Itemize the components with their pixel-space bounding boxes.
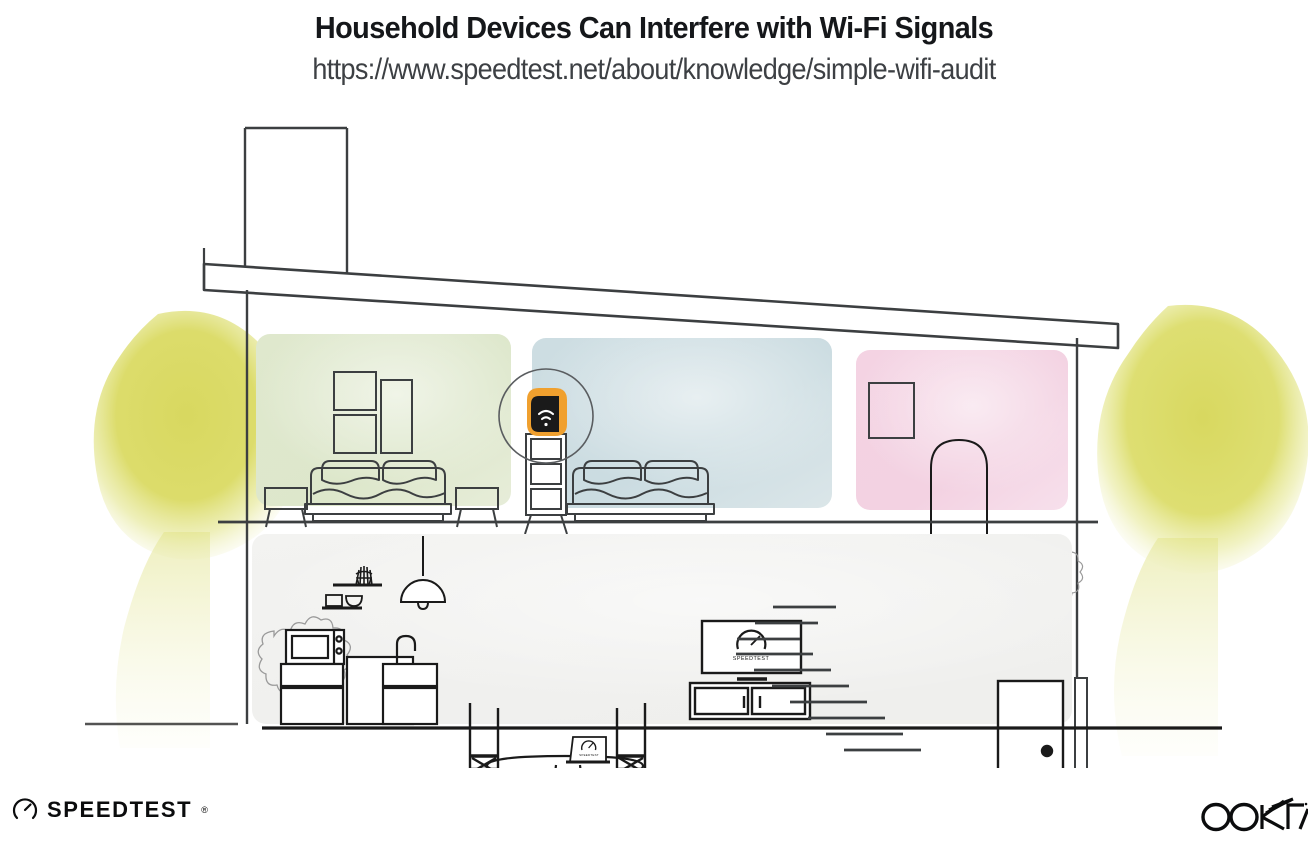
house-cutaway-illustration: SPEEDTEST	[0, 108, 1308, 768]
roof	[204, 248, 1118, 348]
illustration-page: Household Devices Can Interfere with Wi-…	[0, 0, 1308, 861]
page-header: Household Devices Can Interfere with Wi-…	[0, 0, 1308, 87]
room-downstairs: SPEEDTEST	[252, 534, 1072, 768]
front-door[interactable]	[998, 681, 1063, 768]
shelving-unit	[525, 434, 567, 534]
page-url[interactable]: https://www.speedtest.net/about/knowledg…	[65, 53, 1242, 87]
ookla-logo[interactable]	[1196, 795, 1308, 835]
tree-right-icon	[1097, 305, 1308, 756]
window-right	[1075, 678, 1087, 768]
tv-brand-text: SPEEDTEST	[733, 656, 770, 662]
speedtest-logo[interactable]: SPEEDTEST ®	[12, 797, 208, 823]
speedtest-trademark: ®	[201, 805, 208, 815]
laptop-brand-text: SPEEDTEST	[579, 753, 599, 757]
speedometer-icon	[12, 797, 38, 823]
microwave-icon	[286, 630, 344, 664]
kitchen-counter	[281, 657, 437, 724]
page-title: Household Devices Can Interfere with Wi-…	[46, 10, 1262, 46]
page-footer: SPEEDTEST ®	[0, 795, 1308, 841]
wifi-router-icon[interactable]	[527, 388, 567, 436]
chimney	[245, 128, 347, 273]
room-bedroom-green	[256, 334, 511, 527]
speedtest-wordmark: SPEEDTEST	[47, 797, 192, 823]
